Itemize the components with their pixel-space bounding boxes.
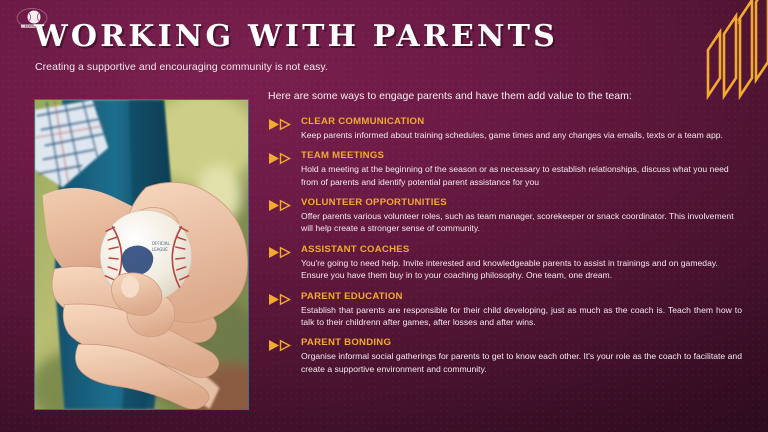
list-item-body: PARENT EDUCATION Establish that parents … bbox=[301, 291, 742, 329]
svg-text:LEAGUE: LEAGUE bbox=[152, 247, 168, 252]
page-subtitle: Creating a supportive and encouraging co… bbox=[35, 61, 558, 73]
list-item: ASSISTANT COACHES You're going to need h… bbox=[268, 244, 742, 282]
list-item: PARENT EDUCATION Establish that parents … bbox=[268, 291, 742, 329]
list-item: CLEAR COMMUNICATION Keep parents informe… bbox=[268, 116, 742, 141]
bullet-heading: VOLUNTEER OPPORTUNITIES bbox=[301, 197, 742, 209]
content-intro: Here are some ways to engage parents and… bbox=[268, 90, 742, 102]
double-arrow-icon bbox=[268, 339, 292, 352]
title-block: WORKING WITH PARENTS Creating a supporti… bbox=[34, 22, 558, 73]
double-arrow-icon bbox=[268, 199, 292, 212]
slide-working-with-parents: BASEBALL 9 WORKING WITH PARENTS Creating… bbox=[0, 0, 768, 432]
list-item-body: ASSISTANT COACHES You're going to need h… bbox=[301, 244, 742, 282]
list-item: PARENT BONDING Organise informal social … bbox=[268, 337, 742, 375]
bullet-text: Offer parents various volunteer roles, s… bbox=[301, 210, 742, 235]
list-item-body: CLEAR COMMUNICATION Keep parents informe… bbox=[301, 116, 742, 141]
list-item: TEAM MEETINGS Hold a meeting at the begi… bbox=[268, 150, 742, 188]
bullet-list: CLEAR COMMUNICATION Keep parents informe… bbox=[268, 116, 742, 375]
bullet-heading: TEAM MEETINGS bbox=[301, 150, 742, 162]
bullet-heading: PARENT BONDING bbox=[301, 337, 742, 349]
bullet-text: You're going to need help. Invite intere… bbox=[301, 257, 742, 282]
content-column: Here are some ways to engage parents and… bbox=[268, 90, 742, 375]
list-item-body: PARENT BONDING Organise informal social … bbox=[301, 337, 742, 375]
list-item-body: TEAM MEETINGS Hold a meeting at the begi… bbox=[301, 150, 742, 188]
svg-text:OFFICIAL: OFFICIAL bbox=[152, 241, 171, 246]
bullet-text: Keep parents informed about training sch… bbox=[301, 129, 742, 141]
page-title: WORKING WITH PARENTS bbox=[34, 22, 558, 52]
double-arrow-icon bbox=[268, 246, 292, 259]
list-item: VOLUNTEER OPPORTUNITIES Offer parents va… bbox=[268, 197, 742, 235]
hero-photo: OFFICIAL LEAGUE bbox=[34, 99, 249, 410]
double-arrow-icon bbox=[268, 152, 292, 165]
slide-number: 9 bbox=[737, 17, 742, 26]
list-item-body: VOLUNTEER OPPORTUNITIES Offer parents va… bbox=[301, 197, 742, 235]
double-arrow-icon bbox=[268, 293, 292, 306]
double-arrow-icon bbox=[268, 118, 292, 131]
corner-stripes-decoration bbox=[658, 0, 768, 100]
bullet-text: Organise informal social gatherings for … bbox=[301, 350, 742, 375]
bullet-text: Establish that parents are responsible f… bbox=[301, 304, 742, 329]
bullet-heading: ASSISTANT COACHES bbox=[301, 244, 742, 256]
bullet-heading: CLEAR COMMUNICATION bbox=[301, 116, 742, 128]
bullet-heading: PARENT EDUCATION bbox=[301, 291, 742, 303]
bullet-text: Hold a meeting at the beginning of the s… bbox=[301, 163, 742, 188]
